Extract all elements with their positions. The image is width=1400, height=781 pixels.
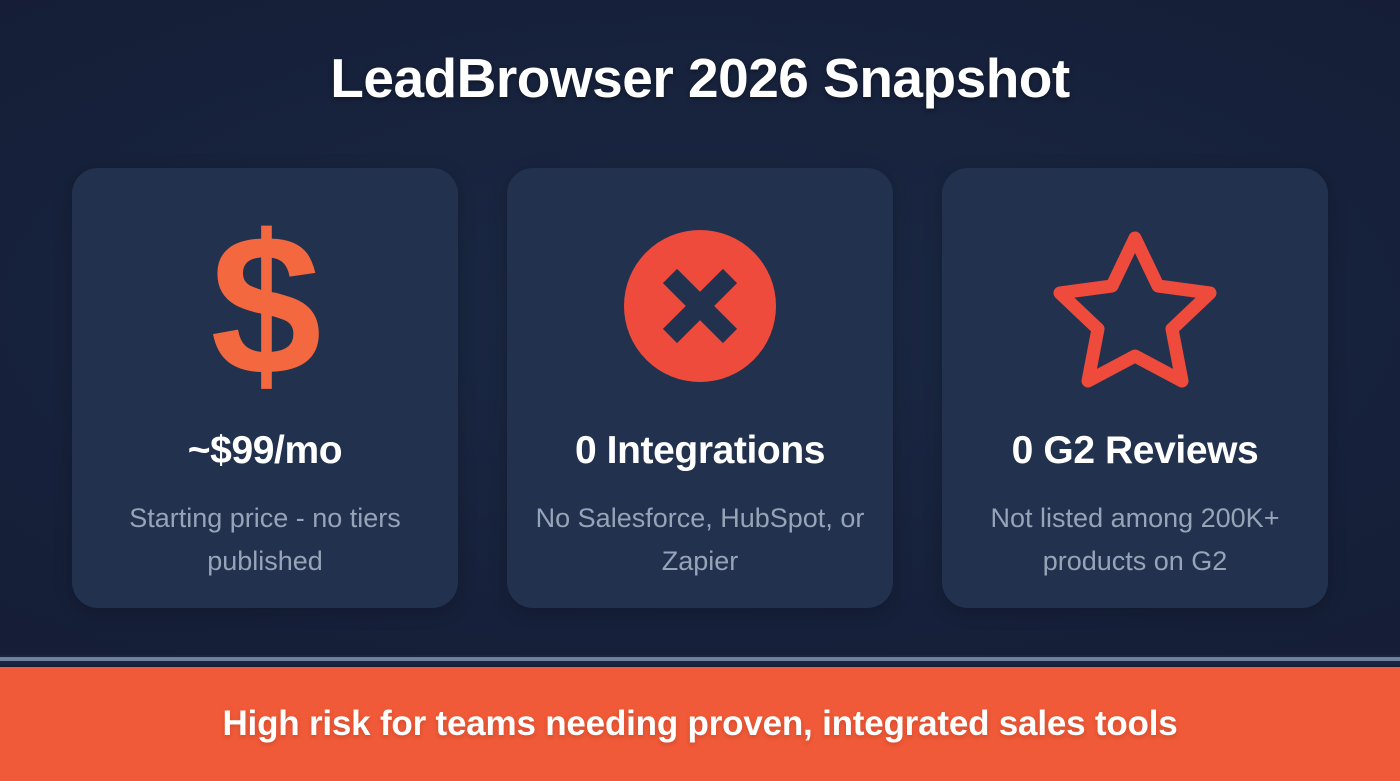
stat-card-reviews-description: Not listed among 200K+ products on G2 [970, 497, 1300, 583]
risk-banner-text: High risk for teams needing proven, inte… [222, 704, 1177, 744]
star-outline-icon [1049, 206, 1221, 406]
stat-card-integrations-value: 0 Integrations [575, 430, 825, 473]
circle-x-icon [620, 206, 780, 406]
dollar-sign-icon: $ [210, 206, 319, 406]
stat-card-reviews-value: 0 G2 Reviews [1012, 430, 1259, 473]
stat-card-pricing-value: ~$99/mo [188, 430, 342, 473]
dollar-sign-glyph: $ [210, 231, 319, 381]
stat-card-pricing: $ ~$99/mo Starting price - no tiers publ… [72, 168, 458, 608]
stat-card-reviews: 0 G2 Reviews Not listed among 200K+ prod… [942, 168, 1328, 608]
stat-card-integrations: 0 Integrations No Salesforce, HubSpot, o… [507, 168, 893, 608]
stat-card-list: $ ~$99/mo Starting price - no tiers publ… [72, 168, 1328, 608]
stat-card-pricing-description: Starting price - no tiers published [100, 497, 430, 583]
page-title: LeadBrowser 2026 Snapshot [0, 48, 1400, 109]
section-divider [0, 655, 1400, 665]
risk-banner: High risk for teams needing proven, inte… [0, 667, 1400, 781]
stat-card-integrations-description: No Salesforce, HubSpot, or Zapier [535, 497, 865, 583]
infographic-root: LeadBrowser 2026 Snapshot $ ~$99/mo Star… [0, 0, 1400, 781]
